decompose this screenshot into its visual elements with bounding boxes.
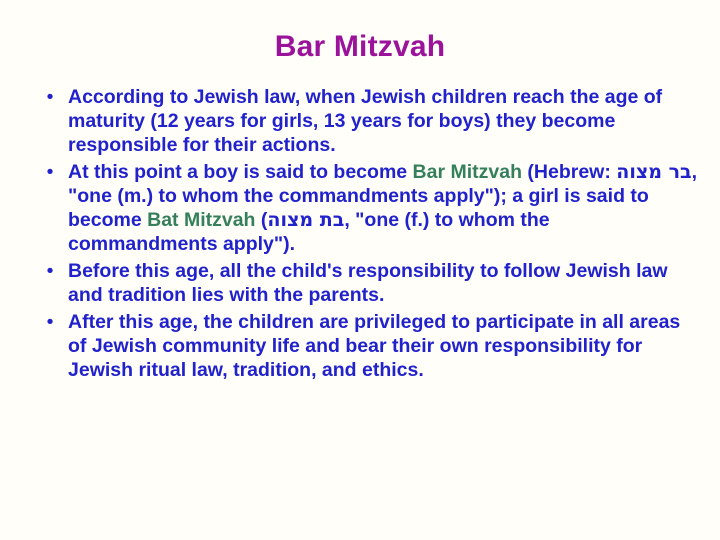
page-title: Bar Mitzvah [0, 0, 720, 63]
list-item: •According to Jewish law, when Jewish ch… [0, 85, 720, 157]
hebrew-term: בת מצוה [267, 209, 344, 231]
bullet-list: •According to Jewish law, when Jewish ch… [0, 85, 720, 382]
bullet-point-icon: • [44, 259, 56, 283]
body-text: ( [255, 209, 267, 231]
list-item: •At this point a boy is said to become B… [0, 160, 720, 256]
list-item: •After this age, the children are privil… [0, 310, 720, 382]
list-item: •Before this age, all the child's respon… [0, 259, 720, 307]
body-text: At this point a boy is said to become [68, 161, 413, 183]
bullet-point-icon: • [44, 160, 56, 184]
slide: Bar Mitzvah •According to Jewish law, wh… [0, 0, 720, 540]
bullet-point-icon: • [44, 310, 56, 334]
accent-term: Bat Mitzvah [147, 209, 255, 231]
hebrew-term: בר מצוה [616, 161, 691, 183]
body-text: Before this age, all the child's respons… [68, 260, 668, 306]
bullet-point-icon: • [44, 85, 56, 109]
body-text: (Hebrew: [522, 161, 616, 183]
accent-term: Bar Mitzvah [413, 161, 522, 183]
body-text: According to Jewish law, when Jewish chi… [68, 86, 662, 156]
body-text: After this age, the children are privile… [68, 311, 680, 381]
